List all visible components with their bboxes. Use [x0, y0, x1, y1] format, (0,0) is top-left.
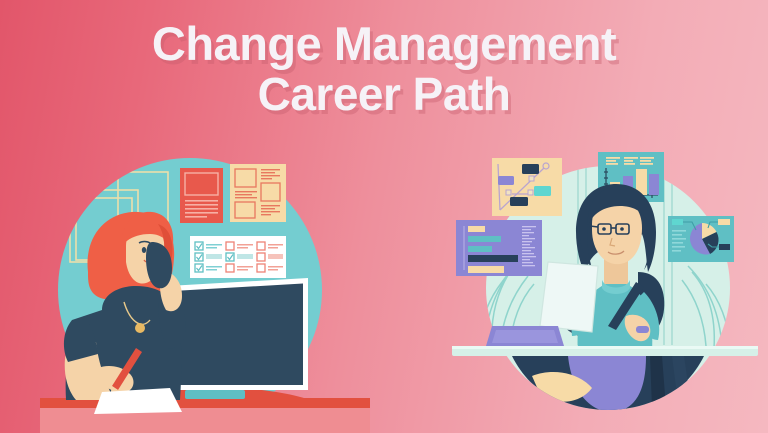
pie-callout-1 — [672, 219, 683, 225]
right-illustration — [440, 140, 768, 433]
flow-node-4 — [534, 186, 551, 196]
title-line-2: Career Path — [0, 69, 768, 120]
flow-node-1 — [498, 176, 514, 185]
bar-4 — [649, 174, 659, 195]
page-title: Change Management Career Path — [0, 18, 768, 120]
lower-body — [512, 356, 704, 414]
cream-poster — [230, 164, 286, 222]
flow-node-2 — [522, 164, 539, 174]
flow-node-3 — [510, 197, 528, 206]
red-poster — [180, 168, 223, 223]
wristwatch — [636, 326, 649, 333]
banner-root: Change Management Career Path — [0, 0, 768, 433]
pie-chart-panel — [668, 216, 734, 262]
left-illustration — [40, 150, 370, 433]
floor — [40, 408, 370, 433]
monitor — [168, 278, 308, 399]
pie-callout-2 — [718, 219, 730, 225]
flowchart-panel — [492, 158, 562, 216]
checklist-board — [190, 236, 286, 278]
code-editor-panel — [456, 220, 542, 276]
pie-callout-3 — [719, 244, 730, 250]
title-line-1: Change Management — [0, 18, 768, 69]
